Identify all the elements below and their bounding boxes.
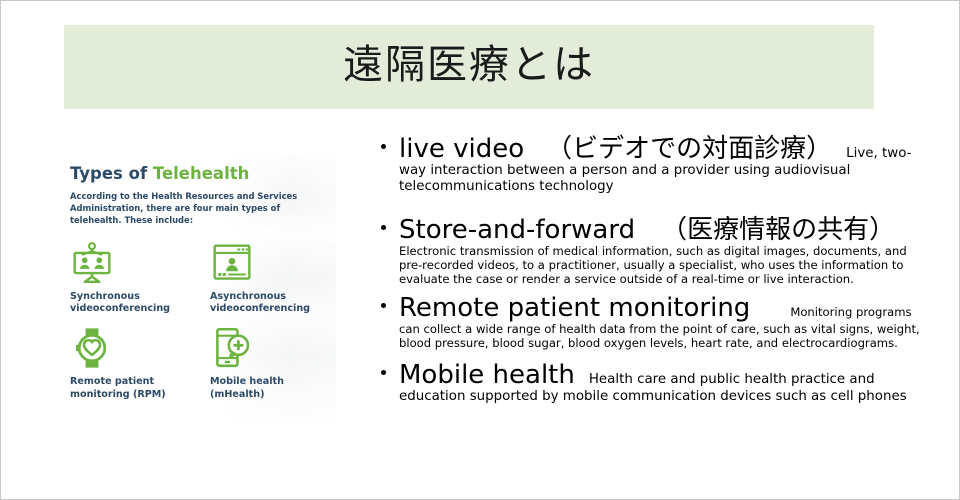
slide-canvas: 遠隔医療とは Types of Telehealth According to … xyxy=(0,0,960,500)
mobile-phone-plus-icon xyxy=(210,327,254,369)
telehealth-types-list: live video（ビデオでの対面診療）Live, two-way inter… xyxy=(377,135,933,405)
bullet-heading-en: live video xyxy=(399,134,524,164)
infographic-item-asynchronous: Asynchronous videoconferencing xyxy=(210,242,328,316)
infographic-subtitle: According to the Health Resources and Se… xyxy=(70,191,320,227)
browser-window-person-icon xyxy=(210,242,254,284)
list-item: Mobile healthHealth care and public heal… xyxy=(377,361,933,405)
infographic-heading-prefix: Types of xyxy=(70,164,153,183)
infographic-item-label: Remote patient monitoring (RPM) xyxy=(70,376,210,401)
infographic-item-label: Mobile health (mHealth) xyxy=(210,376,328,401)
title-banner: 遠隔医療とは xyxy=(64,25,874,109)
infographic-icon-grid: Synchronous videoconferencing xyxy=(70,242,328,401)
infographic-heading-accent: Telehealth xyxy=(153,164,249,183)
video-conference-monitor-icon xyxy=(70,242,114,284)
bullet-dot-icon xyxy=(381,144,386,149)
telehealth-infographic-image: Types of Telehealth According to the Hea… xyxy=(64,153,336,426)
infographic-item-mhealth: Mobile health (mHealth) xyxy=(210,327,328,401)
page-title: 遠隔医療とは xyxy=(343,45,595,89)
bullet-dot-icon xyxy=(381,303,386,308)
infographic-content: Types of Telehealth According to the Hea… xyxy=(64,153,336,401)
infographic-heading: Types of Telehealth xyxy=(70,165,328,184)
bullet-heading-jp: （医療情報の共有） xyxy=(661,215,895,245)
bullet-heading-en: Mobile health xyxy=(399,360,575,390)
smartwatch-heart-icon xyxy=(70,327,114,369)
bullet-description: Electronic transmission of medical infor… xyxy=(399,244,907,286)
list-item: live video（ビデオでの対面診療）Live, two-way inter… xyxy=(377,135,933,196)
list-item: Remote patient monitoringMonitoring prog… xyxy=(377,294,933,350)
bullet-heading-en: Store-and-forward xyxy=(399,215,635,245)
bullet-heading-en: Remote patient monitoring xyxy=(399,293,750,323)
bullet-dot-icon xyxy=(381,225,386,230)
infographic-item-synchronous: Synchronous videoconferencing xyxy=(70,242,210,316)
infographic-item-label: Asynchronous videoconferencing xyxy=(210,291,328,316)
infographic-item-rpm: Remote patient monitoring (RPM) xyxy=(70,327,210,401)
infographic-item-label: Synchronous videoconferencing xyxy=(70,291,210,316)
bullet-dot-icon xyxy=(381,370,386,375)
bullet-heading-jp: （ビデオでの対面診療） xyxy=(546,134,832,164)
list-item: Store-and-forward（医療情報の共有） Electronic tr… xyxy=(377,216,933,287)
